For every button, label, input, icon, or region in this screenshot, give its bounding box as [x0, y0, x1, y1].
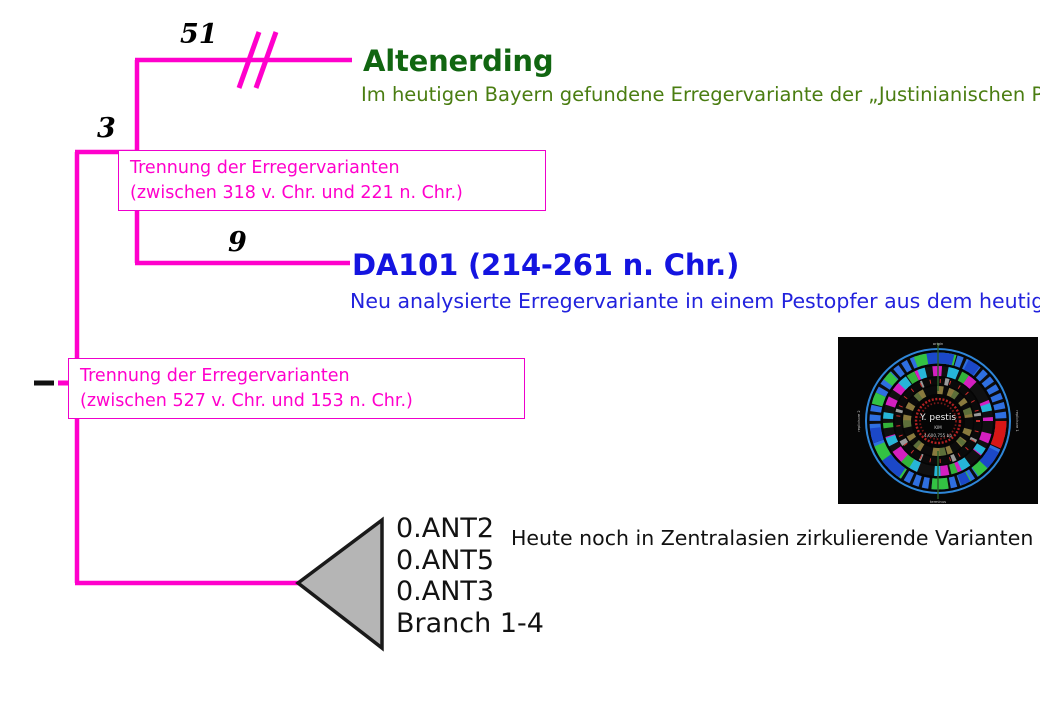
altenerding-desc-line-1: Im heutigen Bayern gefundene Erregervari… [361, 83, 824, 106]
genome-tick-origin: origin [933, 342, 943, 346]
genome-center-size: 4,600,755 bp [924, 433, 952, 438]
da101-desc-line-2: Pestopfer aus dem heutigen Kirgisistan [781, 289, 1040, 313]
taxon-description-da101: Neu analysierte Erregervariante in einem… [350, 288, 1040, 315]
callout-lower-line-2: (zwischen 527 v. Chr. und 153 n. Chr.) [80, 389, 515, 414]
figure-canvas: 51 3 9 Altenerding Im heutigen Bayern ge… [0, 0, 1040, 720]
clade-label-branch-1-4: Branch 1-4 [396, 608, 544, 640]
genome-map-inset: Y. pestis KIM 4,600,755 bp origin termin… [838, 337, 1038, 504]
taxon-description-modern-clade: Heute noch in Zentralasien zirkulierende… [511, 524, 1040, 552]
taxon-description-altenerding: Im heutigen Bayern gefundene Erregervari… [361, 82, 1040, 108]
genome-tick-replichore-1: replichore 1 [1015, 410, 1019, 431]
callout-upper-line-2: (zwischen 318 v. Chr. und 221 n. Chr.) [130, 181, 536, 206]
genome-center-strain: KIM [934, 425, 942, 430]
support-value-da101: 9 [228, 226, 247, 261]
taxon-label-da101: DA101 (214-261 n. Chr.) [352, 247, 739, 284]
genome-tick-terminus: terminus [930, 500, 946, 504]
modern-desc-line-1: Heute noch in Zentralasien [511, 526, 790, 550]
modern-desc-line-2: zirkulierende Varianten des [796, 526, 1040, 550]
genome-center-species: Y. pestis [919, 413, 956, 423]
callout-upper-line-1: Trennung der Erregervarianten [130, 156, 536, 181]
altenerding-desc-line-2: der „Justinianischen Pest“, 6. Jh. n. Ch… [830, 83, 1040, 106]
genome-tick-replichore-2: replichore 2 [857, 410, 861, 431]
da101-desc-line-1: Neu analysierte Erregervariante in einem [350, 289, 774, 313]
callout-lower-line-1: Trennung der Erregervarianten [80, 364, 515, 389]
taxon-label-altenerding: Altenerding [363, 43, 553, 80]
collapsed-clade-triangle [298, 520, 382, 648]
callout-divergence-lower: Trennung der Erregervarianten (zwischen … [68, 358, 525, 419]
support-value-altenerding: 51 [180, 18, 218, 53]
callout-divergence-upper: Trennung der Erregervarianten (zwischen … [118, 150, 546, 211]
support-value-root-split: 3 [97, 112, 116, 147]
clade-label-0ant3: 0.ANT3 [396, 576, 544, 608]
